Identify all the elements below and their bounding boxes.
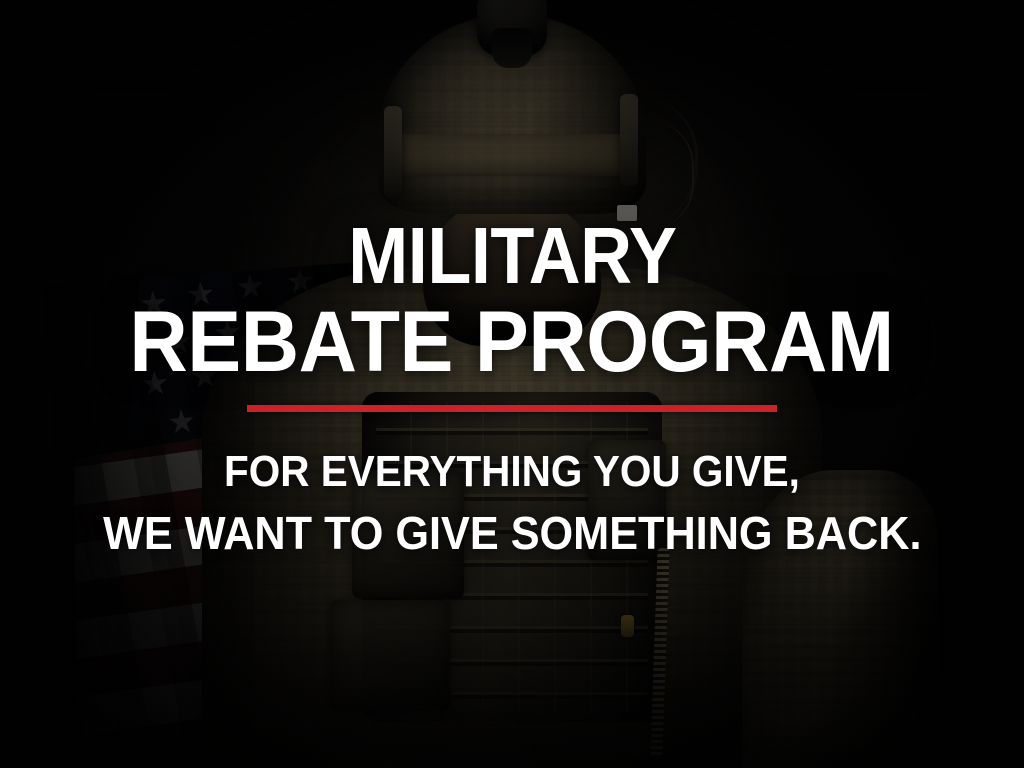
military-rebate-poster: MILITARY REBATE PROGRAM FOR EVERYTHING Y… bbox=[0, 0, 1024, 768]
text-overlay: MILITARY REBATE PROGRAM FOR EVERYTHING Y… bbox=[0, 0, 1024, 768]
subheadline-line-2: WE WANT TO GIVE SOMETHING BACK. bbox=[103, 510, 921, 556]
headline-line-1: MILITARY bbox=[348, 218, 676, 295]
headline-line-2: REBATE PROGRAM bbox=[130, 301, 894, 384]
subheadline-line-1: FOR EVERYTHING YOU GIVE, bbox=[224, 450, 800, 494]
red-accent-rule bbox=[247, 405, 777, 412]
